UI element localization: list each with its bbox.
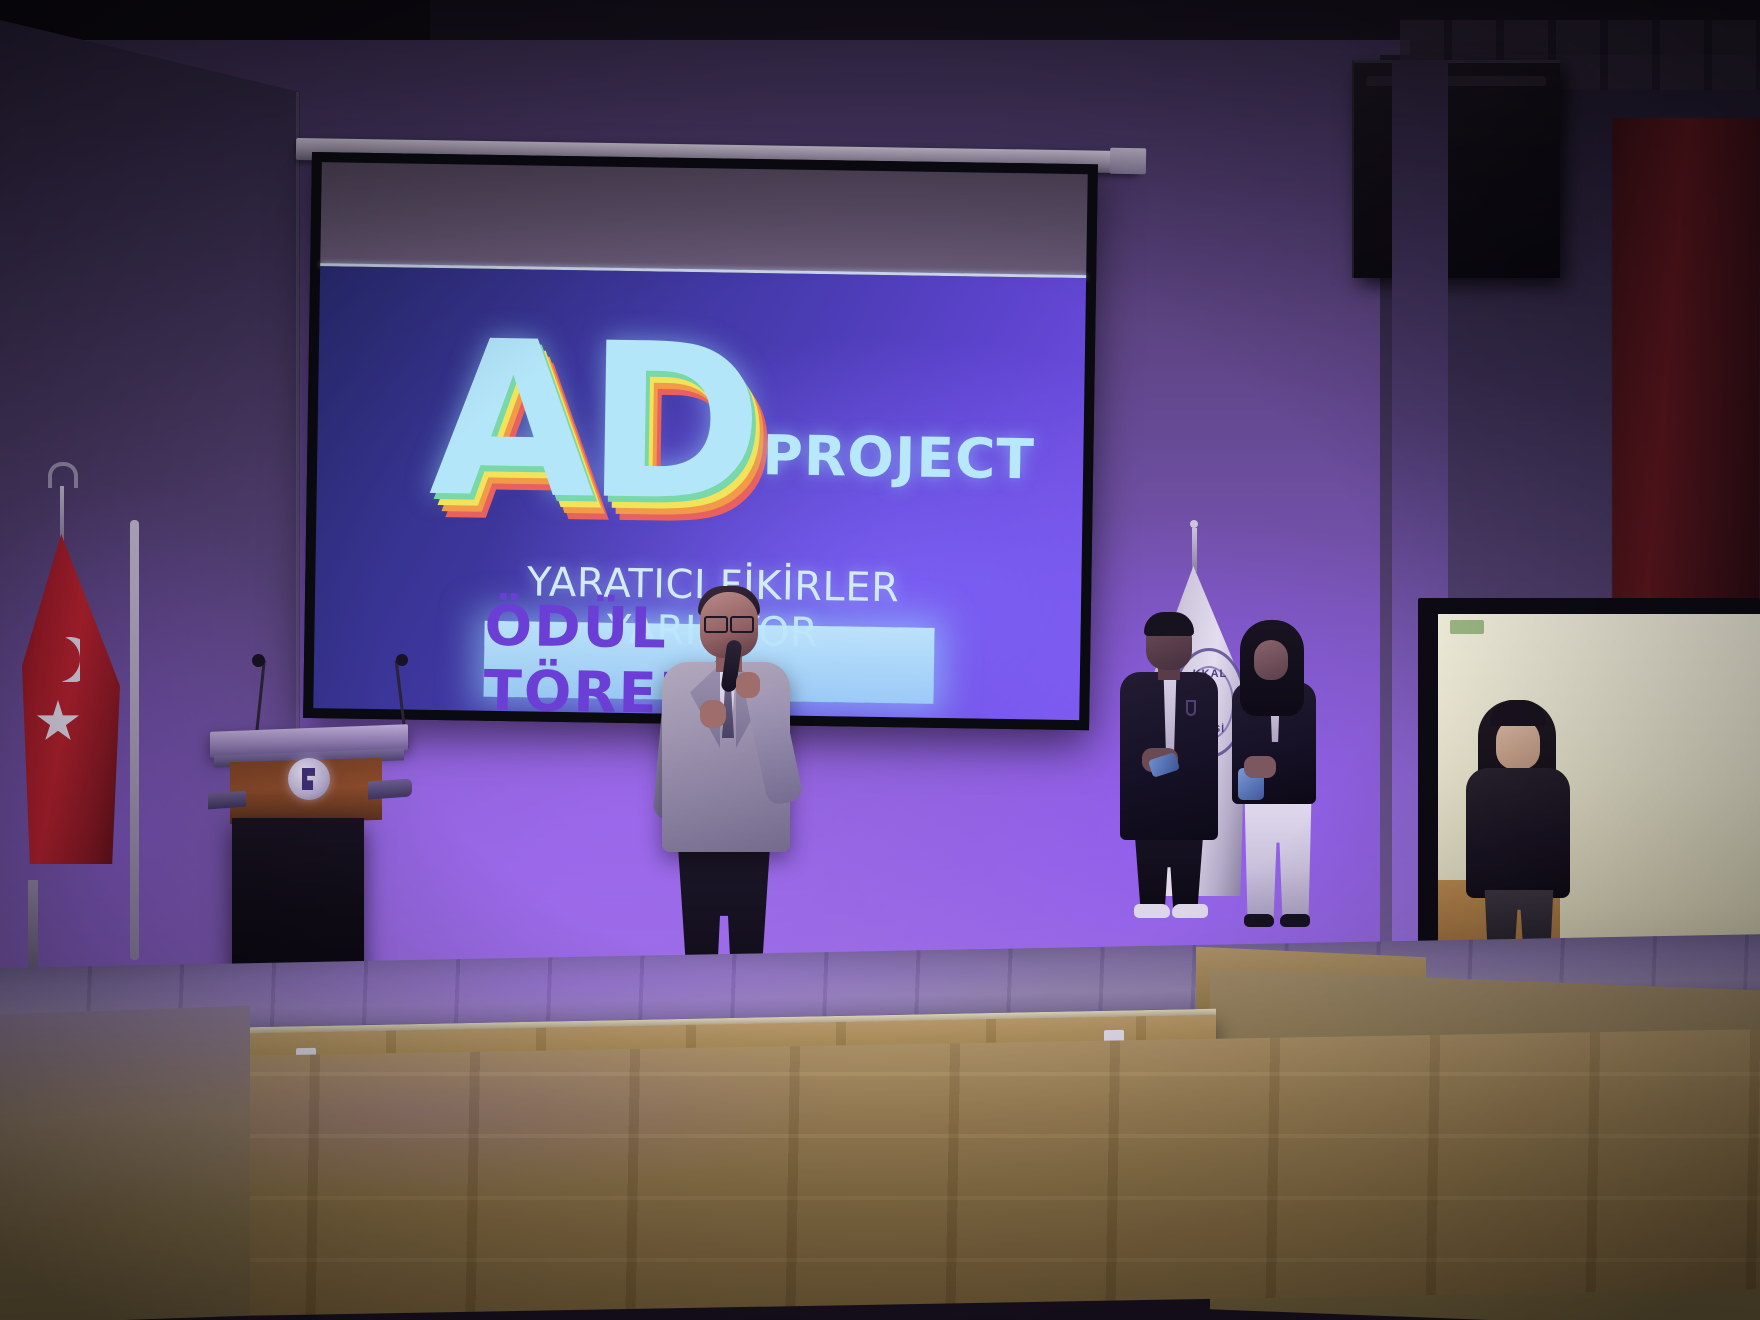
flag-hook-icon: [48, 462, 78, 488]
glasses-icon: [704, 616, 754, 629]
speaker-hand-right: [736, 672, 760, 698]
doorway-woman-jacket: [1466, 768, 1570, 898]
screen-unlit-band: [320, 162, 1088, 278]
host-man-shoe-right: [1172, 904, 1208, 918]
lower-floor-plank-texture: [0, 1029, 1760, 1320]
crescent-icon: [34, 636, 80, 682]
host-man-shoe-left: [1134, 904, 1170, 918]
presentation-slide: AD PROJECT YARATICI FİKİRLER YARIŞIYOR Ö…: [313, 266, 1086, 720]
podium-shelf-right: [368, 778, 412, 799]
microphone-icon-left: [252, 654, 265, 667]
host-woman-face: [1254, 640, 1288, 680]
white-pole: [130, 520, 139, 960]
screen-rail-cap: [1110, 148, 1146, 175]
podium-shelf-left: [208, 791, 246, 810]
logo-word: PROJECT: [762, 423, 1035, 491]
projection-screen: AD PROJECT YARATICI FİKİRLER YARIŞIYOR Ö…: [303, 152, 1098, 730]
podium-crest-icon: [288, 758, 330, 800]
speaker-hand-left: [700, 700, 726, 728]
exit-sign-icon: [1450, 620, 1484, 634]
logo-letters: AD: [428, 328, 754, 517]
lapel-pin-icon: [1186, 700, 1196, 716]
slide-logo: AD PROJECT: [428, 328, 1036, 522]
stage-curtain: [1612, 118, 1760, 618]
host-woman-shoe-right: [1280, 914, 1310, 927]
ceiling-speaker-icon: [1352, 60, 1560, 278]
university-flag-pole: [1192, 528, 1197, 572]
turkish-flag-pole: [60, 486, 64, 542]
host-woman-shoe-left: [1244, 914, 1274, 927]
host-man-hair: [1144, 612, 1194, 636]
floor-left-area: [0, 1006, 250, 1320]
microphone-icon-right: [396, 654, 408, 666]
auditorium-scene: AD PROJECT YARATICI FİKİRLER YARIŞIYOR Ö…: [0, 0, 1760, 1320]
host-woman-hands: [1244, 756, 1276, 778]
university-flag-finial-icon: [1190, 520, 1198, 528]
